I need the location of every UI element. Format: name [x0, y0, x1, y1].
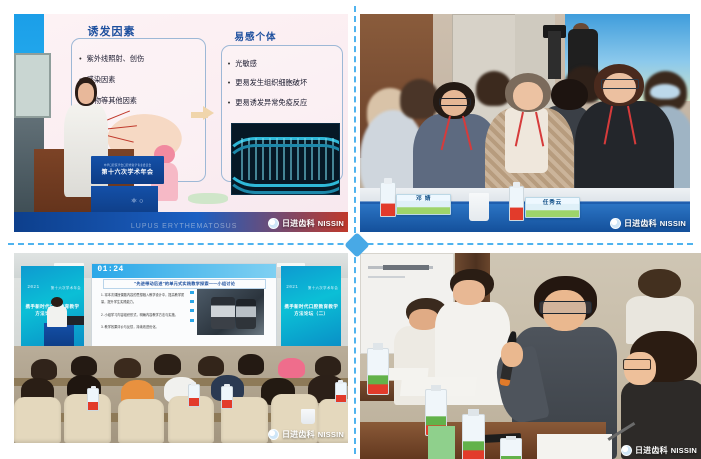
- watermark-cn: 日进齿科: [635, 445, 668, 456]
- slide-footer-text: LUPUS ERYTHEMATOSUS: [131, 223, 238, 230]
- dna-rungs: [236, 138, 334, 180]
- water-bottle-4: [500, 438, 522, 459]
- slide-illustration-ground: [188, 193, 228, 204]
- papers-stack-3: [537, 434, 612, 459]
- slide-right-bullet-1: 光敏感: [228, 60, 257, 67]
- paper-cup: [301, 409, 314, 424]
- name-placard-1: 邓 婧: [396, 194, 451, 215]
- attendee-left-near-face: [453, 280, 485, 304]
- qa-session-scene: [360, 253, 701, 459]
- banner-left-meeting: 第十六次学术年会: [51, 285, 81, 291]
- watermark-logo-icon: [268, 429, 279, 440]
- slide-bullet-2: 2. 小组学习内容组织形式，明确内容教学方法与实施。: [101, 312, 189, 319]
- watermark-logo-icon: [621, 445, 632, 456]
- podium-sign: 中华口腔医学会口腔修复学专业委员会 第十六次学术年会: [91, 156, 164, 184]
- whiteboard-line-2: [383, 265, 429, 270]
- watermark-en: NISSIN: [318, 430, 344, 439]
- slide-right-heading: 易感个体: [234, 29, 276, 43]
- attendee-3-glasses-icon: [601, 79, 639, 89]
- divider-vertical: [354, 6, 356, 454]
- speaker-body: [47, 306, 67, 327]
- water-bottle-4: [335, 382, 347, 403]
- slide-bullet-3: 3. 教学效果评价与反馈，持续改进优化。: [101, 324, 189, 331]
- slide-photo-person-2: [236, 299, 256, 329]
- slide-marker-1: [190, 291, 194, 294]
- slide-right-bullet-2: 更易发生组织细胞破坏: [228, 79, 307, 86]
- green-folder: [428, 426, 455, 459]
- watermark: 日进齿科 NISSIN: [621, 445, 697, 456]
- slide-arrow-icon: [203, 106, 214, 120]
- audience-head-7: [278, 358, 305, 379]
- watermark: 日进齿科 NISSIN: [268, 429, 344, 440]
- audience-head-2: [71, 356, 98, 377]
- speaker-hand: [501, 342, 523, 368]
- photo-bottom-left: 2021 第十六次学术年会 携手新时代口腔教育教学方法论坛（二） 2021 第十…: [14, 253, 348, 443]
- paper-cup: [469, 193, 489, 221]
- slide-photo-person-1: [211, 297, 234, 329]
- face-mask-icon: [650, 84, 680, 99]
- chair-1: [14, 397, 61, 443]
- slide-marker-4: [190, 319, 194, 322]
- slide-bullet-1: 1. 将本次课授课题内容的思想融入教学设计中，提高教学质量，提升学生实践能力。: [101, 292, 189, 307]
- watermark: 日进齿科 NISSIN: [268, 218, 344, 229]
- banner-right-text: 携手新时代口腔教育教学方法论坛（二）: [283, 304, 340, 318]
- name-placard-1-name: 邓 婧: [416, 194, 431, 202]
- photo-collage: 诱发因素 易感个体 紫外线照射、创伤 感染因素 药物等其他因素 光敏感 更易发生…: [0, 0, 701, 459]
- slide-left-heading: 诱发因素: [87, 23, 135, 39]
- audience-head-8: [315, 356, 342, 377]
- water-bottle-1: [87, 388, 99, 411]
- watermark-en: NISSIN: [660, 219, 686, 228]
- countdown-timer: 01:24: [97, 265, 124, 274]
- audience-head-1: [31, 359, 58, 380]
- conference-logo-icon: ⚛○: [131, 197, 146, 205]
- whiteboard-line-3: [368, 276, 405, 278]
- water-bottle-2: [188, 384, 200, 407]
- photo-bottom-right: 日进齿科 NISSIN: [360, 253, 701, 459]
- audience-head-3: [114, 358, 141, 379]
- attendee-1-glasses-icon: [439, 98, 471, 107]
- name-placard-2: 任秀云: [525, 197, 580, 218]
- attendee-4-head: [551, 79, 587, 110]
- slide-right-bullet-3: 更易诱发异常免疫反应: [228, 99, 307, 106]
- attendee-right-foreground: [619, 331, 701, 459]
- camera-tripod: [548, 31, 561, 79]
- lecture-scene: 诱发因素 易感个体 紫外线照射、创伤 感染因素 药物等其他因素 光敏感 更易发生…: [14, 14, 348, 232]
- whiteboard: [14, 53, 51, 118]
- banner-right-year: 2021: [286, 285, 298, 290]
- chair-3: [118, 399, 165, 443]
- water-bottle-3: [462, 414, 484, 459]
- watermark-logo-icon: [610, 218, 621, 229]
- dna-helix-image: [231, 123, 340, 195]
- watermark-en: NISSIN: [671, 446, 697, 455]
- name-placard-2-name: 任秀云: [543, 198, 562, 206]
- classroom-scene: 2021 第十六次学术年会 携手新时代口腔教育教学方法论坛（二） 2021 第十…: [14, 253, 348, 443]
- laptop: [67, 316, 84, 326]
- slide-photo: [197, 289, 265, 335]
- photo-top-left: 诱发因素 易感个体 紫外线照射、创伤 感染因素 药物等其他因素 光敏感 更易发生…: [14, 14, 348, 232]
- attendee-right-glasses-icon: [623, 359, 652, 370]
- water-bottle-1: [380, 182, 396, 217]
- slide-left-bullet-1: 紫外线照射、创伤: [79, 55, 144, 62]
- attendee-back-right-head: [638, 269, 680, 297]
- speaker-glasses-icon: [539, 301, 591, 314]
- attendee-2-face: [513, 82, 543, 110]
- audience-head-6: [238, 354, 265, 375]
- audience-head-4: [154, 354, 181, 375]
- audience-scene: 邓 婧 任秀云: [360, 14, 690, 232]
- watermark-cn: 日进齿科: [282, 218, 315, 229]
- banner-left-year: 2021: [27, 285, 39, 290]
- water-bottle-1: [367, 348, 389, 395]
- banner-right-meeting: 第十六次学术年会: [308, 285, 338, 291]
- slide-marker-3: [190, 309, 194, 312]
- speaker-person: [47, 297, 67, 327]
- speaker-face: [78, 83, 94, 103]
- watermark-cn: 日进齿科: [282, 429, 315, 440]
- slide-marker-2: [190, 300, 194, 303]
- podium-sign-title: 第十六次学术年会: [102, 167, 154, 176]
- water-bottle-3: [221, 386, 233, 409]
- watermark: 日进齿科 NISSIN: [610, 218, 686, 229]
- watermark-en: NISSIN: [318, 219, 344, 228]
- photo-top-right: 邓 婧 任秀云 日进齿科 NISSIN: [360, 14, 690, 232]
- water-bottle-2: [509, 186, 525, 221]
- watermark-cn: 日进齿科: [624, 218, 657, 229]
- watermark-logo-icon: [268, 218, 279, 229]
- projection-screen: 01:24 "先进带动后进"的单元式实践教学探索——小组讨论 1. 将本次课授课…: [91, 263, 277, 349]
- audience-head-5: [198, 356, 225, 377]
